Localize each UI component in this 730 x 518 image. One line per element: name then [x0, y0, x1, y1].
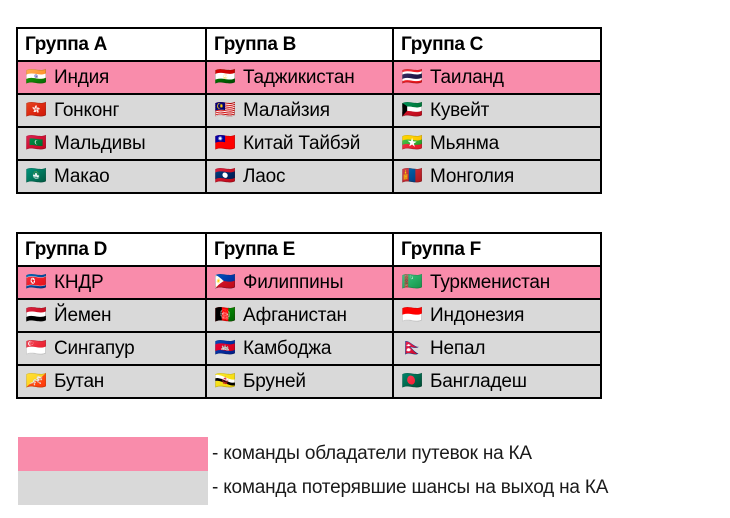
flag-icon: 🇵🇭	[213, 274, 237, 291]
team-name: Туркменистан	[430, 273, 550, 292]
team-cell: 🇲🇳Монголия	[393, 160, 601, 193]
team-cell: 🇲🇴Макао	[17, 160, 206, 193]
column-header-group-d: Группа D	[17, 233, 206, 266]
team-cell: 🇦🇫Афганистан	[206, 299, 393, 332]
team-name: Монголия	[430, 167, 514, 186]
flag-icon: 🇾🇪	[24, 307, 48, 324]
team-cell: 🇹🇲Туркменистан	[393, 266, 601, 299]
flag-icon: 🇮🇳	[24, 69, 48, 86]
team-cell: 🇮🇳Индия	[17, 61, 206, 94]
table-row: 🇲🇻Мальдивы 🇹🇼Китай Тайбэй 🇲🇲Мьянма	[17, 127, 601, 160]
flag-icon: 🇧🇩	[400, 373, 424, 390]
team-cell: 🇹🇭Таиланд	[393, 61, 601, 94]
flag-icon: 🇮🇩	[400, 307, 424, 324]
legend-label-qualified: - команды обладатели путевок на КА	[208, 443, 532, 465]
legend-row-eliminated: - команда потерявшие шансы на выход на К…	[18, 471, 608, 505]
flag-icon: 🇰🇭	[213, 340, 237, 357]
team-name: Сингапур	[54, 339, 134, 358]
team-name: Бангладеш	[430, 372, 527, 391]
legend-label-eliminated: - команда потерявшие шансы на выход на К…	[208, 477, 608, 499]
flag-icon: 🇸🇬	[24, 340, 48, 357]
team-cell: 🇮🇩Индонезия	[393, 299, 601, 332]
legend: - команды обладатели путевок на КА - ком…	[18, 437, 608, 505]
column-header-group-b: Группа B	[206, 28, 393, 61]
team-cell: 🇧🇳Бруней	[206, 365, 393, 398]
flag-icon: 🇭🇰	[24, 102, 48, 119]
team-cell: 🇸🇬Сингапур	[17, 332, 206, 365]
team-name: Мальдивы	[54, 134, 145, 153]
team-name: Индонезия	[430, 306, 524, 325]
team-name: Бутан	[54, 372, 104, 391]
flag-icon: 🇲🇾	[213, 102, 237, 119]
team-cell: 🇾🇪Йемен	[17, 299, 206, 332]
flag-icon: 🇳🇵	[400, 340, 424, 357]
team-name: Таиланд	[430, 68, 504, 87]
team-cell: 🇲🇾Малайзия	[206, 94, 393, 127]
column-header-group-a: Группа A	[17, 28, 206, 61]
table-row: 🇸🇬Сингапур 🇰🇭Камбоджа 🇳🇵Непал	[17, 332, 601, 365]
team-name: Лаос	[243, 167, 285, 186]
team-name: Камбоджа	[243, 339, 331, 358]
flag-icon: 🇧🇹	[24, 373, 48, 390]
tournament-groups-page: Группа A Группа B Группа C 🇮🇳Индия 🇹🇯Тад…	[0, 0, 730, 518]
flag-icon: 🇦🇫	[213, 307, 237, 324]
team-name: Китай Тайбэй	[243, 134, 360, 153]
team-cell: 🇹🇯Таджикистан	[206, 61, 393, 94]
team-name: Кувейт	[430, 101, 489, 120]
team-name: Индия	[54, 68, 109, 87]
team-name: Мьянма	[430, 134, 499, 153]
table-row: 🇭🇰Гонконг 🇲🇾Малайзия 🇰🇼Кувейт	[17, 94, 601, 127]
flag-icon: 🇰🇼	[400, 102, 424, 119]
flag-icon: 🇱🇦	[213, 168, 237, 185]
team-name: Гонконг	[54, 101, 119, 120]
legend-swatch-qualified	[18, 437, 208, 471]
legend-swatch-eliminated	[18, 471, 208, 505]
flag-icon: 🇧🇳	[213, 373, 237, 390]
flag-icon: 🇲🇻	[24, 135, 48, 152]
team-cell: 🇭🇰Гонконг	[17, 94, 206, 127]
team-name: Макао	[54, 167, 109, 186]
flag-icon: 🇹🇲	[400, 274, 424, 291]
team-name: Филиппины	[243, 273, 343, 292]
team-cell: 🇰🇭Камбоджа	[206, 332, 393, 365]
team-name: Малайзия	[243, 101, 330, 120]
table-row: 🇰🇵КНДР 🇵🇭Филиппины 🇹🇲Туркменистан	[17, 266, 601, 299]
flag-icon: 🇲🇲	[400, 135, 424, 152]
flag-icon: 🇲🇴	[24, 168, 48, 185]
team-name: Непал	[430, 339, 485, 358]
team-name: Таджикистан	[243, 68, 355, 87]
column-header-group-f: Группа F	[393, 233, 601, 266]
team-name: Афганистан	[243, 306, 347, 325]
flag-icon: 🇹🇼	[213, 135, 237, 152]
team-cell: 🇧🇩Бангладеш	[393, 365, 601, 398]
table-row: 🇲🇴Макао 🇱🇦Лаос 🇲🇳Монголия	[17, 160, 601, 193]
team-cell: 🇲🇲Мьянма	[393, 127, 601, 160]
team-cell: 🇰🇵КНДР	[17, 266, 206, 299]
team-cell: 🇰🇼Кувейт	[393, 94, 601, 127]
team-cell: 🇱🇦Лаос	[206, 160, 393, 193]
flag-icon: 🇰🇵	[24, 274, 48, 291]
table-header-row: Группа D Группа E Группа F	[17, 233, 601, 266]
flag-icon: 🇹🇭	[400, 69, 424, 86]
team-cell: 🇹🇼Китай Тайбэй	[206, 127, 393, 160]
legend-row-qualified: - команды обладатели путевок на КА	[18, 437, 608, 471]
flag-icon: 🇲🇳	[400, 168, 424, 185]
table-row: 🇾🇪Йемен 🇦🇫Афганистан 🇮🇩Индонезия	[17, 299, 601, 332]
groups-table-def: Группа D Группа E Группа F 🇰🇵КНДР 🇵🇭Фили…	[16, 232, 602, 399]
table-row: 🇧🇹Бутан 🇧🇳Бруней 🇧🇩Бангладеш	[17, 365, 601, 398]
table-row: 🇮🇳Индия 🇹🇯Таджикистан 🇹🇭Таиланд	[17, 61, 601, 94]
team-cell: 🇵🇭Филиппины	[206, 266, 393, 299]
column-header-group-e: Группа E	[206, 233, 393, 266]
team-name: Йемен	[54, 306, 111, 325]
team-name: КНДР	[54, 273, 104, 292]
groups-table-abc: Группа A Группа B Группа C 🇮🇳Индия 🇹🇯Тад…	[16, 27, 602, 194]
team-cell: 🇳🇵Непал	[393, 332, 601, 365]
team-name: Бруней	[243, 372, 306, 391]
table-header-row: Группа A Группа B Группа C	[17, 28, 601, 61]
team-cell: 🇲🇻Мальдивы	[17, 127, 206, 160]
column-header-group-c: Группа C	[393, 28, 601, 61]
flag-icon: 🇹🇯	[213, 69, 237, 86]
team-cell: 🇧🇹Бутан	[17, 365, 206, 398]
